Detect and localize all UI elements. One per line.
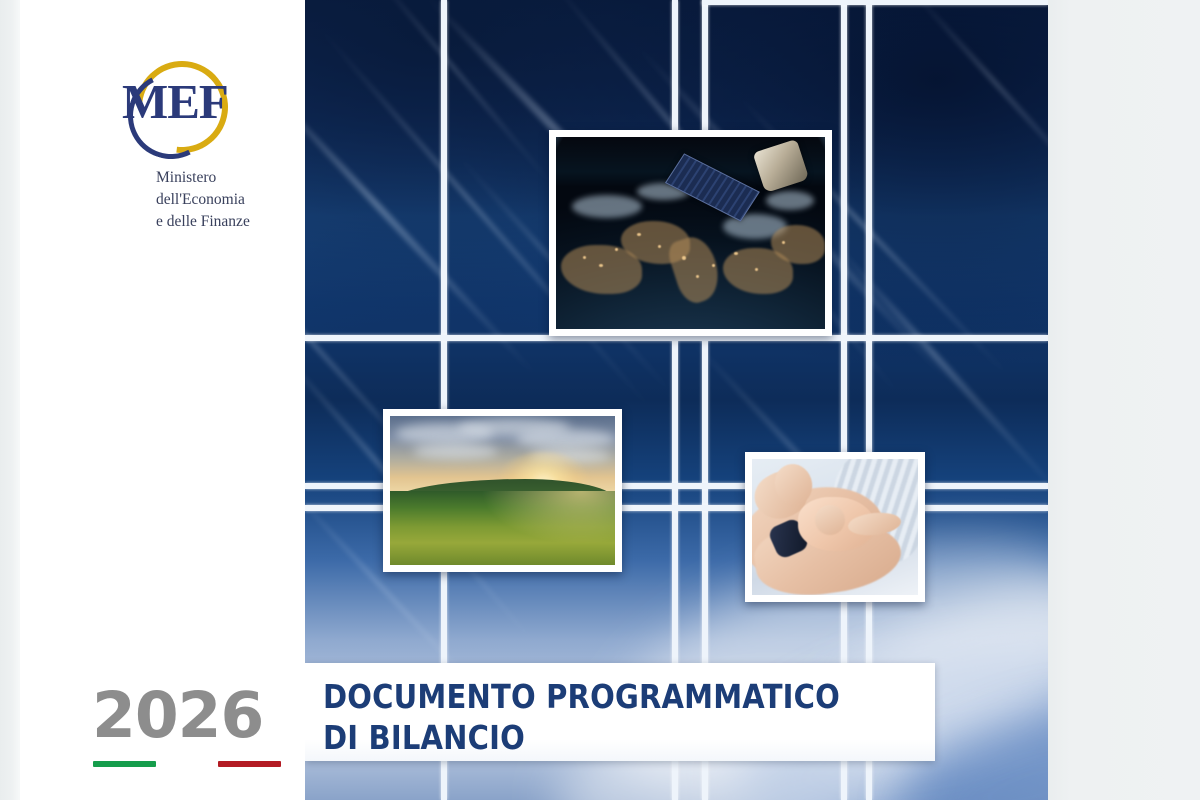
mef-logo-block: MEF Ministero dell'Economia e delle Fina…: [120, 55, 295, 233]
photo-hands-holding-baby-hand: [745, 452, 925, 602]
document-cover-page: MEF Ministero dell'Economia e delle Fina…: [0, 0, 1200, 800]
document-page-sheet: MEF Ministero dell'Economia e delle Fina…: [20, 0, 1028, 800]
flag-bar-red: [218, 761, 281, 767]
page-title: DOCUMENTO PROGRAMMATICO DI BILANCIO: [323, 677, 840, 758]
photo-field-at-sunset: [383, 409, 622, 572]
publisher-line-2: dell'Economia: [156, 189, 295, 211]
flag-bar-green: [93, 761, 156, 767]
cover-title-band: DOCUMENTO PROGRAMMATICO DI BILANCIO: [305, 663, 935, 761]
page-edge-right: [1028, 0, 1200, 800]
logo-wordmark: MEF: [122, 77, 228, 126]
publisher-line-3: e delle Finanze: [156, 211, 295, 233]
page-edge-left: [0, 0, 20, 800]
publisher-name: Ministero dell'Economia e delle Finanze: [156, 167, 295, 233]
photo-satellite-over-europe: [549, 130, 832, 336]
year-block: 2026: [92, 684, 292, 771]
mef-logo-mark: MEF: [120, 55, 250, 165]
cover-artwork: DOCUMENTO PROGRAMMATICO DI BILANCIO: [305, 0, 1048, 800]
year-number: 2026: [92, 684, 292, 747]
italian-flag-bars: [92, 761, 282, 771]
publisher-line-1: Ministero: [156, 167, 295, 189]
